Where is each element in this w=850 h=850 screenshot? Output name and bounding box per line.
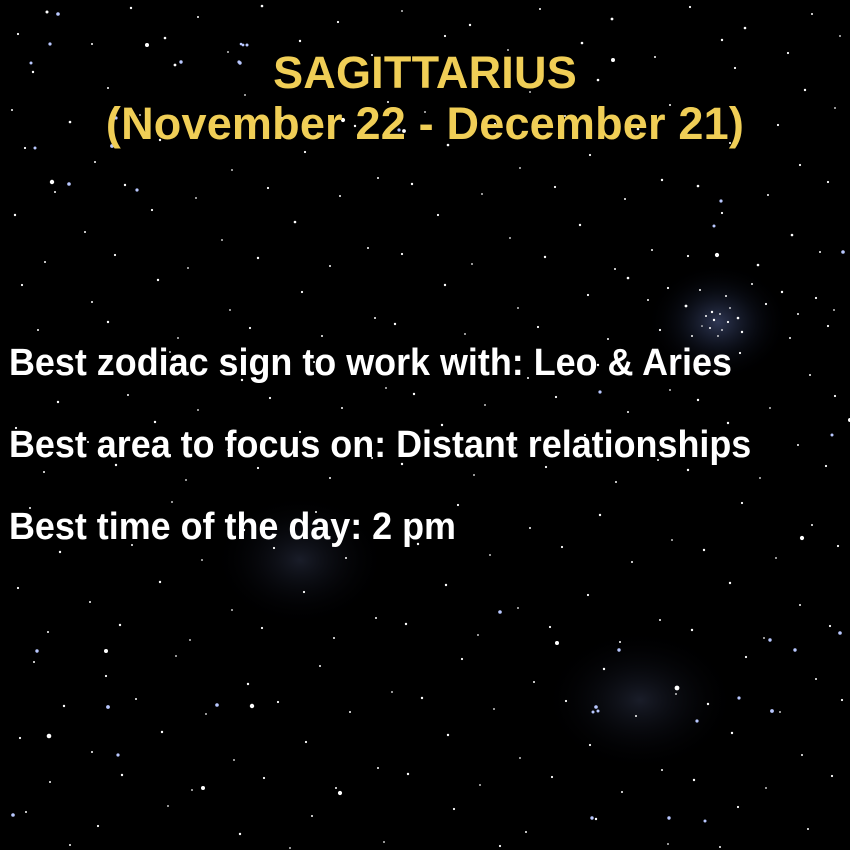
fact-best-time: Best time of the day: 2 pm xyxy=(9,508,804,546)
facts-block: Best zodiac sign to work with: Leo & Ari… xyxy=(9,344,850,546)
fact-best-zodiac-sign: Best zodiac sign to work with: Leo & Ari… xyxy=(9,344,804,382)
card-content: SAGITTARIUS (November 22 - December 21) … xyxy=(0,0,850,850)
title-block: SAGITTARIUS (November 22 - December 21) xyxy=(0,48,850,150)
zodiac-sign-name: SAGITTARIUS xyxy=(0,48,850,99)
zodiac-date-range: (November 22 - December 21) xyxy=(0,99,850,150)
zodiac-card: SAGITTARIUS (November 22 - December 21) … xyxy=(0,0,850,850)
fact-best-area: Best area to focus on: Distant relations… xyxy=(9,426,804,464)
